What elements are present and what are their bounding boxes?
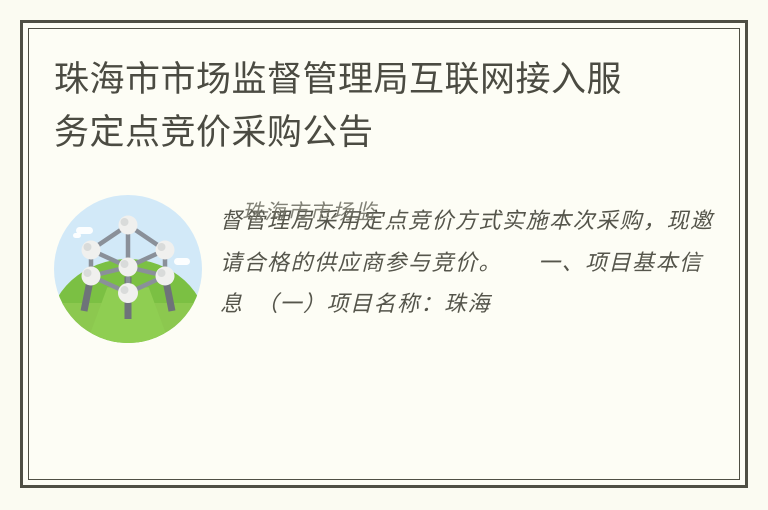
article-card[interactable]: 珠海市市场监督管理局互联网接入服务定点竞价采购公告 bbox=[20, 20, 748, 488]
article-title[interactable]: 珠海市市场监督管理局互联网接入服务定点竞价采购公告 bbox=[51, 53, 654, 159]
article-thumbnail[interactable] bbox=[54, 195, 202, 343]
article-excerpt-text: 督管理局采用定点竞价方式实施本次采购，现邀请合格的供应商参与竞价。 一、项目基本… bbox=[220, 209, 714, 317]
article-body: 督管理局采用定点竞价方式实施本次采购，现邀请合格的供应商参与竞价。 一、项目基本… bbox=[51, 195, 717, 343]
article-excerpt[interactable]: 督管理局采用定点竞价方式实施本次采购，现邀请合格的供应商参与竞价。 一、项目基本… bbox=[220, 195, 717, 325]
thumbnail-circle bbox=[54, 195, 202, 343]
card-content: 珠海市市场监督管理局互联网接入服务定点竞价采购公告 bbox=[23, 23, 745, 485]
atomium-icon bbox=[54, 195, 202, 343]
